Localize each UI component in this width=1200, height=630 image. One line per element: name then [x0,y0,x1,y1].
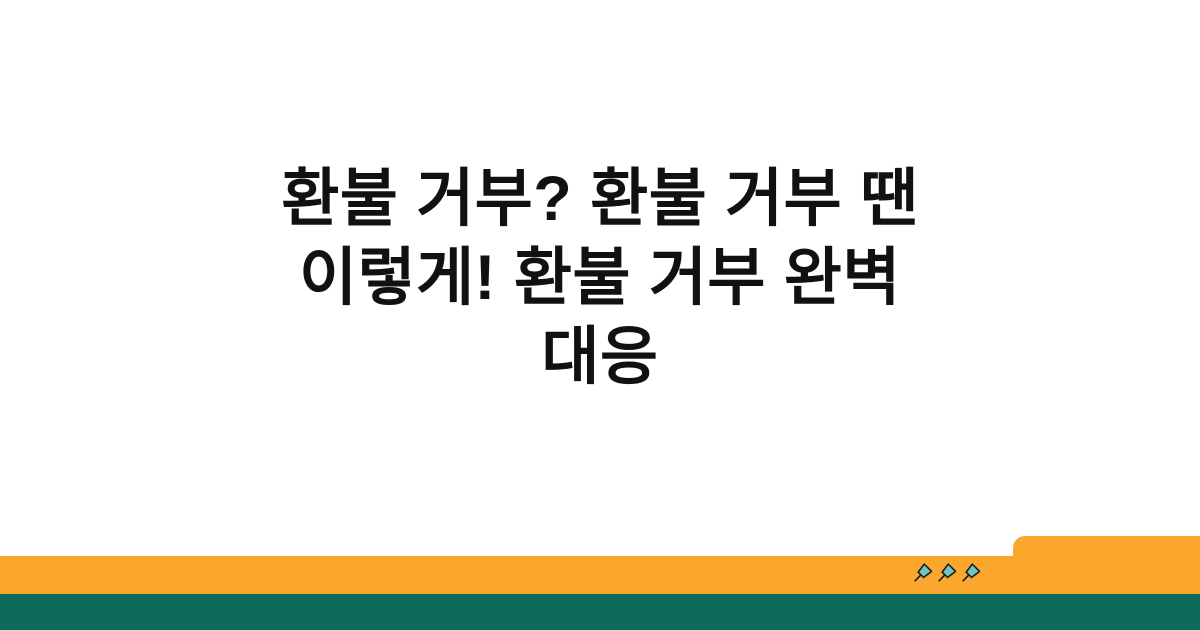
pushpin-icon [960,561,982,583]
thumbnail-canvas: 환불 거부? 환불 거부 땐 이렇게! 환불 거부 완벽 대응 [0,0,1200,630]
footer-teal-band [0,594,1200,630]
footer-step-cap [1013,536,1200,560]
footer-orange-band [0,556,1200,594]
title-area: 환불 거부? 환불 거부 땐 이렇게! 환불 거부 완벽 대응 [0,0,1200,556]
footer-icon-row [912,561,982,583]
pushpin-icon [936,561,958,583]
page-title: 환불 거부? 환불 거부 땐 이렇게! 환불 거부 완벽 대응 [235,160,965,397]
pushpin-icon [912,561,934,583]
